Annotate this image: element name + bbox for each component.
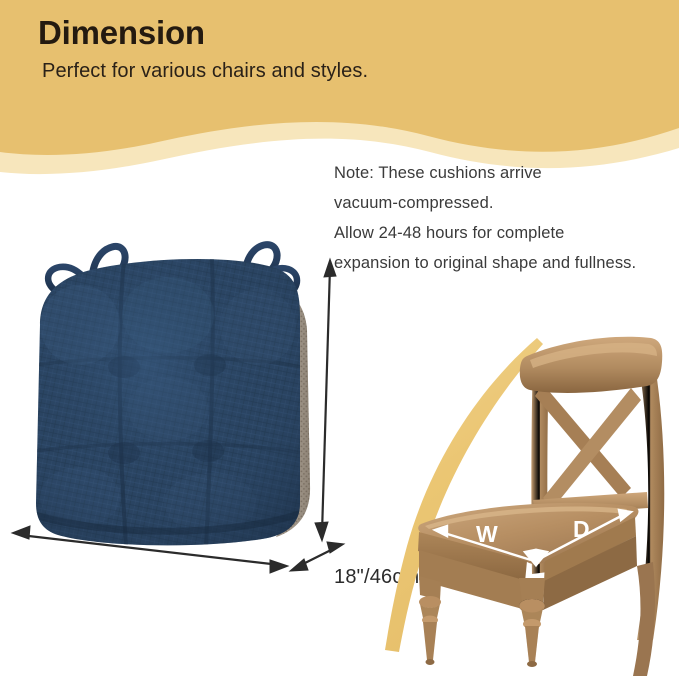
note-line: Note: These cushions arrive — [334, 158, 674, 188]
chair-front-leg-center — [519, 578, 545, 667]
chair-front-leg-left — [419, 576, 441, 665]
seat-depth-marker: D — [573, 516, 590, 542]
chair-svg: W D — [385, 310, 679, 679]
seat-width-marker: W — [476, 521, 498, 547]
dimension-infographic: Dimension Perfect for various chairs and… — [0, 0, 679, 679]
height-dimension-arrow — [315, 259, 336, 541]
cushion-svg — [0, 185, 440, 605]
page-subtitle: Perfect for various chairs and styles. — [42, 60, 538, 83]
page-title: Dimension — [38, 14, 538, 52]
cushion-illustration: 18"/46cm 18"/46cm 3"/8cm — [0, 185, 440, 605]
chair-rear-leg-right — [633, 562, 655, 676]
chair-x-brace-a — [535, 384, 631, 498]
header-text-block: Dimension Perfect for various chairs and… — [38, 14, 538, 83]
cushion-body — [20, 245, 320, 565]
chair-illustration: W D — [385, 310, 679, 679]
